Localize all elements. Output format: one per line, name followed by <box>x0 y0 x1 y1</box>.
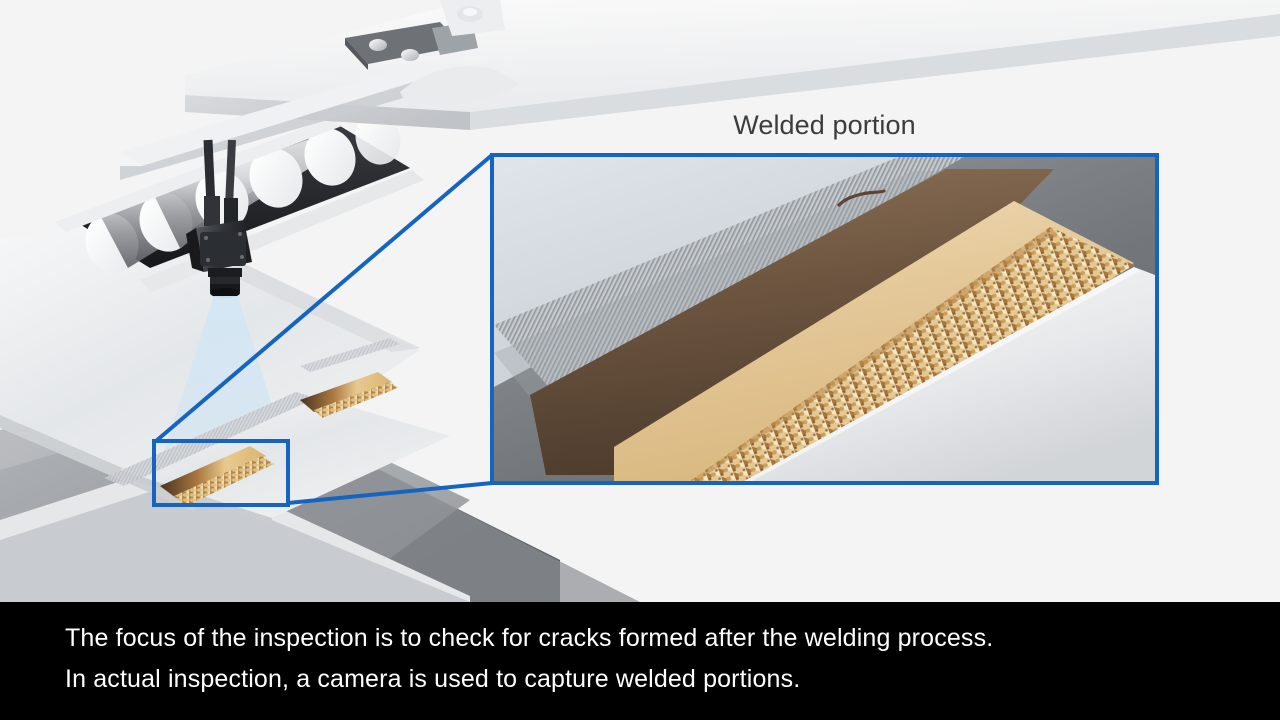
welded-portion-inset[interactable] <box>490 153 1159 485</box>
inset-svg <box>494 157 1155 481</box>
hex-bolt <box>369 39 387 51</box>
camera-lens <box>208 268 242 298</box>
caption-bar: The focus of the inspection is to check … <box>0 602 1280 720</box>
caption-line-2: In actual inspection, a camera is used t… <box>65 665 800 694</box>
hex-bolt <box>401 49 419 61</box>
caption-line-1: The focus of the inspection is to check … <box>65 624 993 653</box>
slide-root: Welded portion <box>0 0 1280 720</box>
page-title: Welded portion <box>490 110 1159 141</box>
